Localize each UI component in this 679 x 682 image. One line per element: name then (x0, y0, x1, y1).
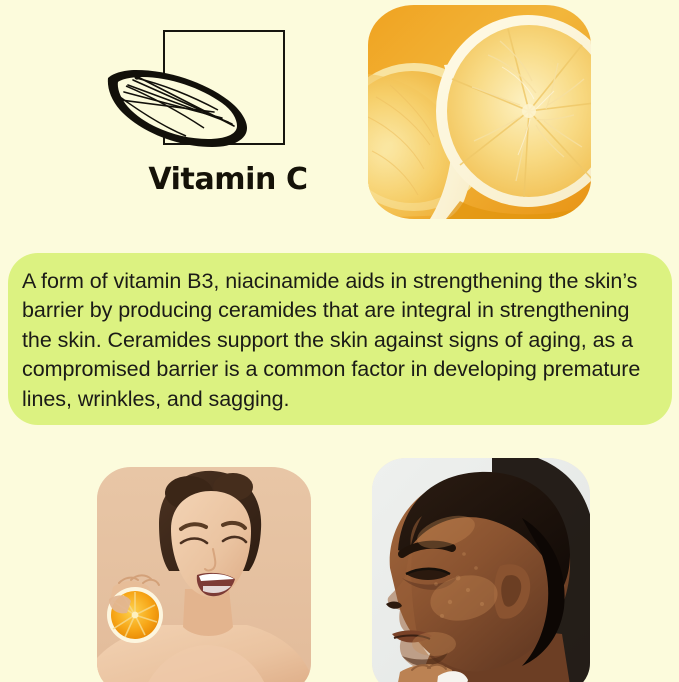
lemon-wedge-icon (106, 40, 266, 150)
brand-label: Vitamin C (118, 162, 338, 197)
description-text: A form of vitamin B3, niacinamide aids i… (22, 267, 658, 414)
lemon-slices-photo (368, 5, 591, 219)
top-section: Vitamin C (0, 0, 679, 240)
smiling-woman-photo (97, 467, 311, 682)
brand-block: Vitamin C (118, 18, 338, 218)
mans-face-photo (372, 458, 590, 682)
description-card: A form of vitamin B3, niacinamide aids i… (8, 253, 672, 425)
infographic-page: Vitamin C (0, 0, 679, 682)
